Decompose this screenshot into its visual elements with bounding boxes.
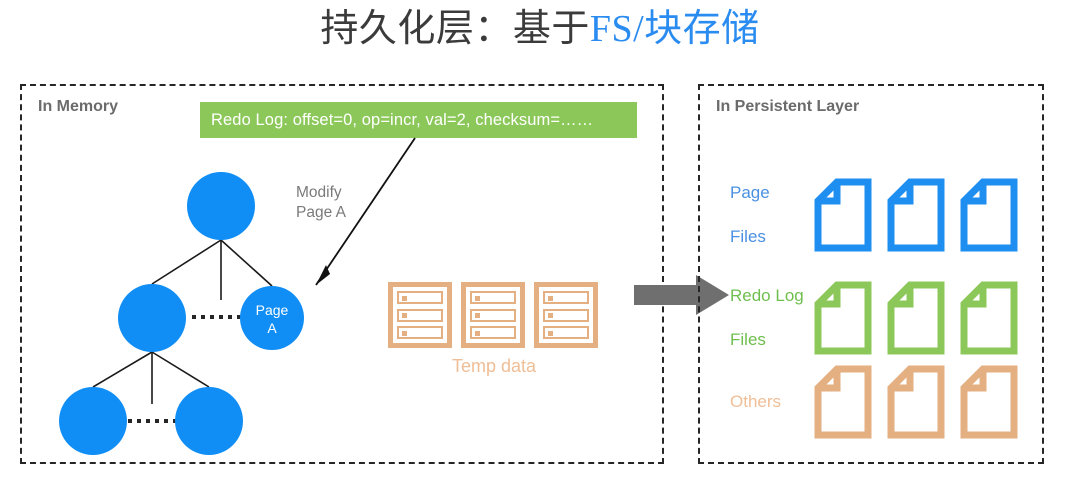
persistent-row-page-files-label: Page Files bbox=[730, 160, 814, 270]
redo-log-banner: Redo Log: offset=0, op=incr, val=2, chec… bbox=[200, 102, 637, 138]
label-line1: Page bbox=[730, 182, 814, 204]
rack-slot bbox=[397, 326, 443, 339]
redo-log-file-icon[interactable] bbox=[814, 281, 872, 355]
other-file-icon[interactable] bbox=[960, 365, 1018, 439]
redo-log-file-icon-strip bbox=[814, 281, 1018, 355]
page-file-icon-strip bbox=[814, 178, 1018, 252]
label-line1: Redo Log bbox=[730, 285, 814, 307]
redo-log-file-icon[interactable] bbox=[887, 281, 945, 355]
persistent-row-page-files: Page Files bbox=[730, 160, 1018, 270]
modify-page-a-annotation: Modify Page A bbox=[296, 183, 346, 223]
label-line2: Files bbox=[730, 329, 814, 351]
temp-data-rack[interactable] bbox=[534, 282, 598, 348]
persistent-row-others-label: Others bbox=[730, 369, 814, 435]
persistent-layer-panel-title: In Persistent Layer bbox=[716, 98, 859, 116]
rack-slot bbox=[543, 326, 589, 339]
page-title: 持久化层：基于FS/块存储 bbox=[0, 2, 1080, 56]
persistent-row-others: Others bbox=[730, 365, 1018, 439]
other-file-icon[interactable] bbox=[814, 365, 872, 439]
page-file-icon[interactable] bbox=[887, 178, 945, 252]
page-title-accent: FS/块存储 bbox=[590, 8, 760, 50]
rack-slot bbox=[397, 291, 443, 304]
temp-data-label: Temp data bbox=[388, 356, 600, 377]
other-file-icon[interactable] bbox=[887, 365, 945, 439]
redo-log-file-icon[interactable] bbox=[960, 281, 1018, 355]
others-file-icon-strip bbox=[814, 365, 1018, 439]
label-line1: Others bbox=[730, 391, 814, 413]
rack-slot bbox=[397, 309, 443, 322]
rack-slot bbox=[543, 309, 589, 322]
rack-slot bbox=[470, 309, 516, 322]
rack-slot bbox=[543, 291, 589, 304]
label-line2: Files bbox=[730, 226, 814, 248]
temp-data-racks bbox=[388, 282, 600, 348]
temp-data-rack[interactable] bbox=[461, 282, 525, 348]
persistent-row-redo-log-files-label: Redo Log Files bbox=[730, 263, 814, 373]
page-file-icon[interactable] bbox=[960, 178, 1018, 252]
temp-data-group: Temp data bbox=[388, 282, 600, 377]
modify-annotation-line2: Page A bbox=[296, 203, 346, 223]
page-file-icon[interactable] bbox=[814, 178, 872, 252]
temp-data-rack[interactable] bbox=[388, 282, 452, 348]
in-memory-panel-title: In Memory bbox=[38, 98, 118, 116]
rack-slot bbox=[470, 291, 516, 304]
page-title-main: 持久化层：基于 bbox=[320, 8, 590, 50]
rack-slot bbox=[470, 326, 516, 339]
modify-annotation-line1: Modify bbox=[296, 183, 346, 203]
persistent-row-redo-log-files: Redo Log Files bbox=[730, 263, 1018, 373]
in-memory-panel: In Memory bbox=[20, 84, 664, 464]
